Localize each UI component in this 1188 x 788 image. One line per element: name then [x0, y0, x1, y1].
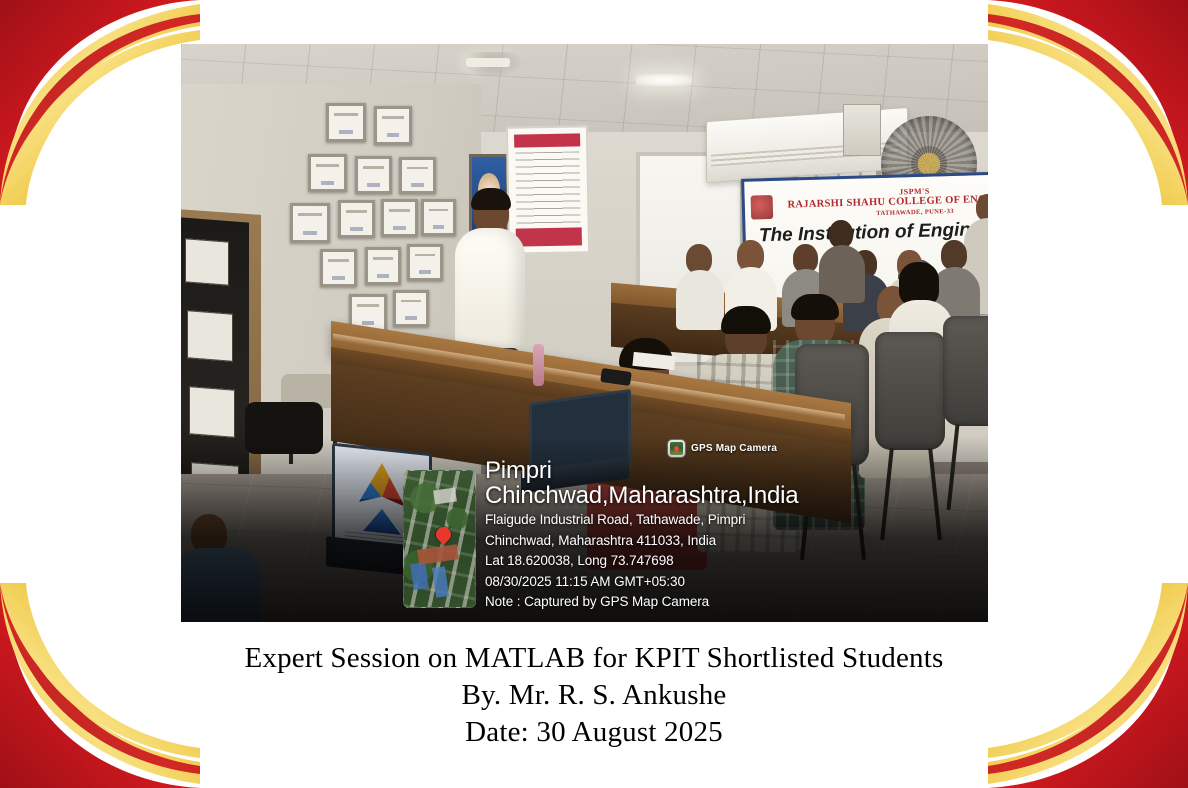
gps-address-line-1: Flaigude Industrial Road, Tathawade, Pim…	[485, 511, 974, 529]
corner-decoration-top-left	[0, 0, 200, 205]
gps-note: Note : Captured by GPS Map Camera	[485, 593, 974, 611]
caption-speaker: By. Mr. R. S. Ankushe	[0, 677, 1188, 714]
poster-header-band	[514, 133, 580, 147]
poster-text-lines	[515, 151, 580, 224]
wall-certificate	[381, 199, 418, 237]
wall-certificate	[308, 154, 347, 192]
gps-app-badge: GPS Map Camera	[668, 440, 777, 457]
gps-city-line-1: Pimpri	[485, 458, 974, 483]
water-bottle	[533, 344, 544, 386]
gps-map-camera-overlay: GPS Map Camera Pimpri Chinchwad,Maharash…	[181, 436, 988, 622]
slide-caption: Expert Session on MATLAB for KPIT Shortl…	[0, 640, 1188, 751]
gps-city-line-2: Chinchwad,Maharashtra,India	[485, 483, 974, 508]
banner-college-name: RAJARSHI SHAHU COLLEGE OF ENGINEERING	[787, 192, 988, 210]
wall-certificate	[338, 200, 375, 238]
gps-map-camera-icon	[668, 440, 685, 457]
corner-decoration-top-right	[988, 0, 1188, 205]
wall-certificate	[421, 199, 456, 236]
door-panel	[187, 310, 233, 362]
gps-address-line-2: Chinchwad, Maharashtra 411033, India	[485, 532, 974, 550]
electrical-box	[843, 104, 881, 156]
map-pin-icon	[433, 524, 454, 545]
gps-timestamp: 08/30/2025 11:15 AM GMT+05:30	[485, 573, 974, 591]
wall-certificate	[320, 249, 357, 287]
wall-certificate	[365, 247, 401, 285]
wall-certificate	[407, 244, 443, 281]
ceiling-light-center	[636, 74, 692, 86]
gps-info-block: Pimpri Chinchwad,Maharashtra,India Flaig…	[485, 458, 974, 611]
caption-title: Expert Session on MATLAB for KPIT Shortl…	[0, 640, 1188, 677]
slide-canvas: JSPM'S RAJARSHI SHAHU COLLEGE OF ENGINEE…	[0, 0, 1188, 788]
gps-coordinates: Lat 18.620038, Long 73.747698	[485, 552, 974, 570]
wall-certificate	[326, 103, 366, 142]
session-photo: JSPM'S RAJARSHI SHAHU COLLEGE OF ENGINEE…	[181, 44, 988, 622]
gps-map-thumbnail	[403, 470, 476, 608]
presenter-hair	[471, 188, 511, 210]
poster-footer-band	[516, 227, 582, 246]
gps-app-name: GPS Map Camera	[691, 443, 777, 454]
photo-scene: JSPM'S RAJARSHI SHAHU COLLEGE OF ENGINEE…	[181, 44, 988, 622]
banner-address: TATHAWADE, PUNE-33	[876, 208, 954, 217]
ceiling-light-left	[466, 58, 510, 67]
presenter-shirt	[455, 228, 525, 352]
wall-certificate	[399, 157, 436, 194]
caption-date: Date: 30 August 2025	[0, 714, 1188, 751]
notice-poster	[506, 125, 590, 254]
door-panel	[185, 238, 229, 285]
wall-certificate	[290, 203, 330, 243]
wall-certificate	[374, 106, 412, 145]
wall-certificate	[393, 290, 429, 327]
wall-certificate	[355, 156, 392, 194]
door-panel	[189, 386, 235, 438]
